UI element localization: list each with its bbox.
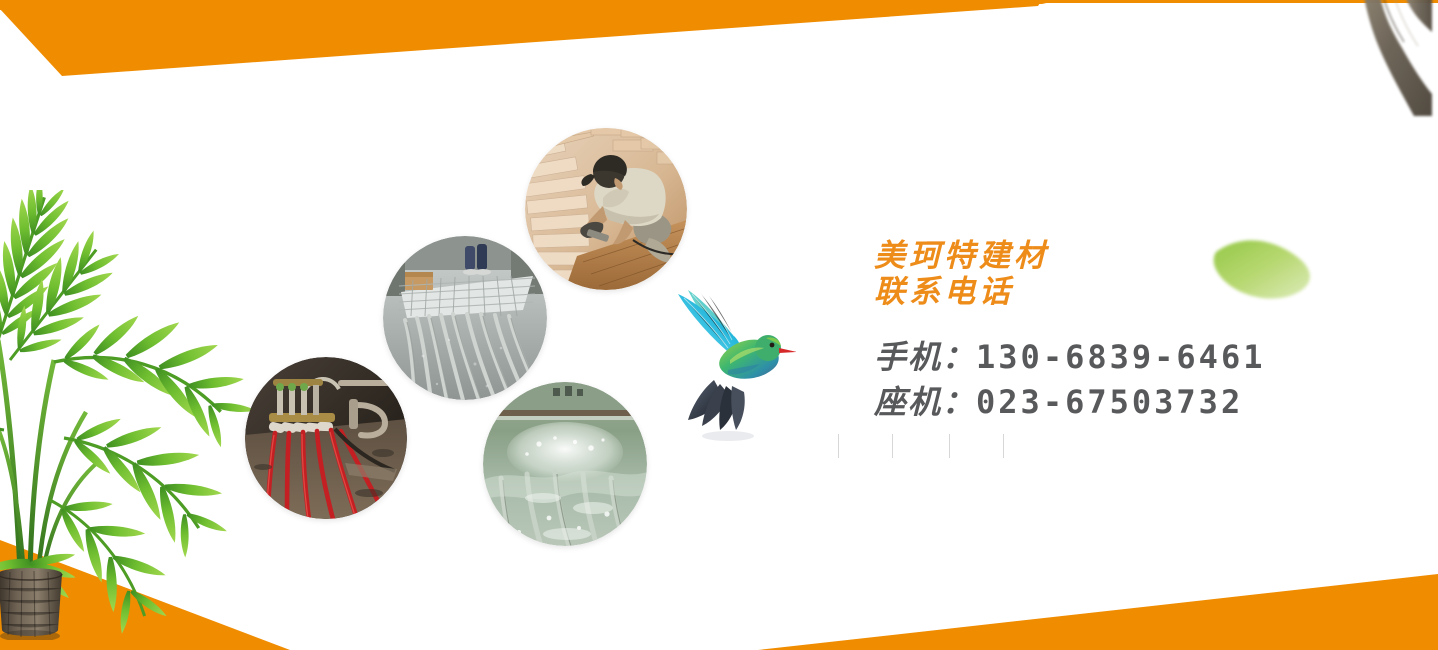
hummingbird-icon — [666, 284, 796, 454]
company-name: 美珂特建材 — [874, 238, 1334, 274]
potted-palm-plant-icon — [0, 190, 258, 640]
photo-circle-manifold — [245, 357, 407, 519]
orange-bottom-right-band — [700, 530, 1438, 650]
photo-circle-pipe-grid — [383, 236, 547, 400]
landline-phone-line[interactable]: 座机：023-67503732 — [874, 380, 1334, 425]
photo-circle-flooring — [525, 128, 687, 290]
orange-top-band — [0, 0, 1438, 120]
contact-numbers: 手机：130-6839-6461 座机：023-67503732 — [874, 335, 1334, 425]
contact-text-block: 美珂特建材 联系电话 手机：130-6839-6461 座机：023-67503… — [874, 238, 1334, 425]
divider-tick — [949, 434, 950, 458]
tree-branch-icon — [1282, 0, 1432, 116]
promo-banner: 美珂特建材 联系电话 手机：130-6839-6461 座机：023-67503… — [0, 0, 1438, 650]
contact-label: 联系电话 — [874, 274, 1334, 310]
mobile-phone-label: 手机： — [874, 338, 976, 376]
divider-ticks — [838, 434, 1018, 458]
mobile-phone-number: 130-6839-6461 — [976, 338, 1265, 376]
mobile-phone-line[interactable]: 手机：130-6839-6461 — [874, 335, 1334, 380]
divider-tick — [1003, 434, 1004, 458]
landline-phone-label: 座机： — [874, 383, 976, 421]
divider-tick — [838, 434, 839, 458]
divider-tick — [892, 434, 893, 458]
landline-phone-number: 023-67503732 — [976, 383, 1243, 421]
photo-circle-water-test — [483, 382, 647, 546]
